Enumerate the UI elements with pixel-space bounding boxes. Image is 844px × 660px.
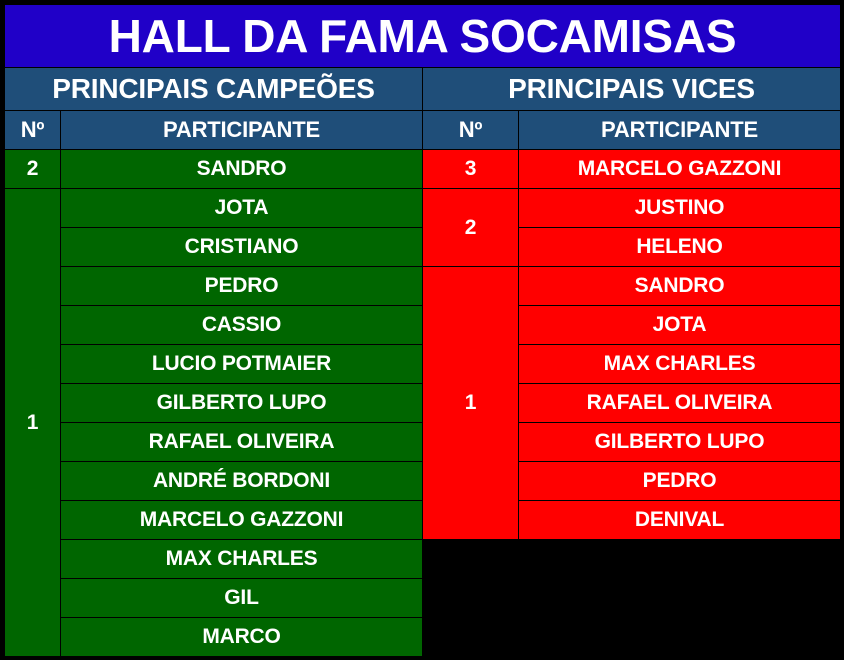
column-header-champions-participant: PARTICIPANTE [61, 111, 423, 150]
section-heading-champions: PRINCIPAIS CAMPEÕES [5, 68, 423, 111]
table-row: 1 JOTA 2 JUSTINO [5, 189, 841, 228]
runner-up-name: SANDRO [519, 267, 841, 306]
champion-name: RAFAEL OLIVEIRA [61, 423, 423, 462]
runner-up-name: DENIVAL [519, 501, 841, 540]
champion-name: CRISTIANO [61, 228, 423, 267]
column-header-runners-up-number: Nº [423, 111, 519, 150]
champion-name: MARCELO GAZZONI [61, 501, 423, 540]
runner-up-name: JOTA [519, 306, 841, 345]
table-row: PEDRO 1 SANDRO [5, 267, 841, 306]
title-row: HALL DA FAMA SOCAMISAS [5, 5, 841, 68]
page-title: HALL DA FAMA SOCAMISAS [5, 5, 841, 68]
runner-up-name: JUSTINO [519, 189, 841, 228]
column-header-champions-number: Nº [5, 111, 61, 150]
champion-name: SANDRO [61, 150, 423, 189]
champion-name: JOTA [61, 189, 423, 228]
runner-up-name: MAX CHARLES [519, 345, 841, 384]
champion-name: MARCO [61, 618, 423, 657]
table-row: MAX CHARLES [5, 540, 841, 579]
runner-up-count: 3 [423, 150, 519, 189]
hall-of-fame-board: HALL DA FAMA SOCAMISAS PRINCIPAIS CAMPEÕ… [0, 0, 844, 660]
runner-up-count: 2 [423, 189, 519, 267]
runner-up-name: PEDRO [519, 462, 841, 501]
section-heading-runners-up: PRINCIPAIS VICES [423, 68, 841, 111]
champion-name: MAX CHARLES [61, 540, 423, 579]
runner-up-name: GILBERTO LUPO [519, 423, 841, 462]
champion-name: CASSIO [61, 306, 423, 345]
champion-name: GIL [61, 579, 423, 618]
champion-name: LUCIO POTMAIER [61, 345, 423, 384]
runner-up-name: RAFAEL OLIVEIRA [519, 384, 841, 423]
champion-name: ANDRÉ BORDONI [61, 462, 423, 501]
runner-up-name: HELENO [519, 228, 841, 267]
champion-count: 1 [5, 189, 61, 657]
champion-count: 2 [5, 150, 61, 189]
hall-of-fame-table: HALL DA FAMA SOCAMISAS PRINCIPAIS CAMPEÕ… [4, 4, 841, 657]
table-row: 2 SANDRO 3 MARCELO GAZZONI [5, 150, 841, 189]
champion-name: PEDRO [61, 267, 423, 306]
runner-up-count: 1 [423, 267, 519, 540]
champion-name: GILBERTO LUPO [61, 384, 423, 423]
section-heading-row: PRINCIPAIS CAMPEÕES PRINCIPAIS VICES [5, 68, 841, 111]
table-body: HALL DA FAMA SOCAMISAS PRINCIPAIS CAMPEÕ… [5, 5, 841, 657]
column-header-runners-up-participant: PARTICIPANTE [519, 111, 841, 150]
empty-region [423, 540, 841, 657]
column-header-row: Nº PARTICIPANTE Nº PARTICIPANTE [5, 111, 841, 150]
runner-up-name: MARCELO GAZZONI [519, 150, 841, 189]
